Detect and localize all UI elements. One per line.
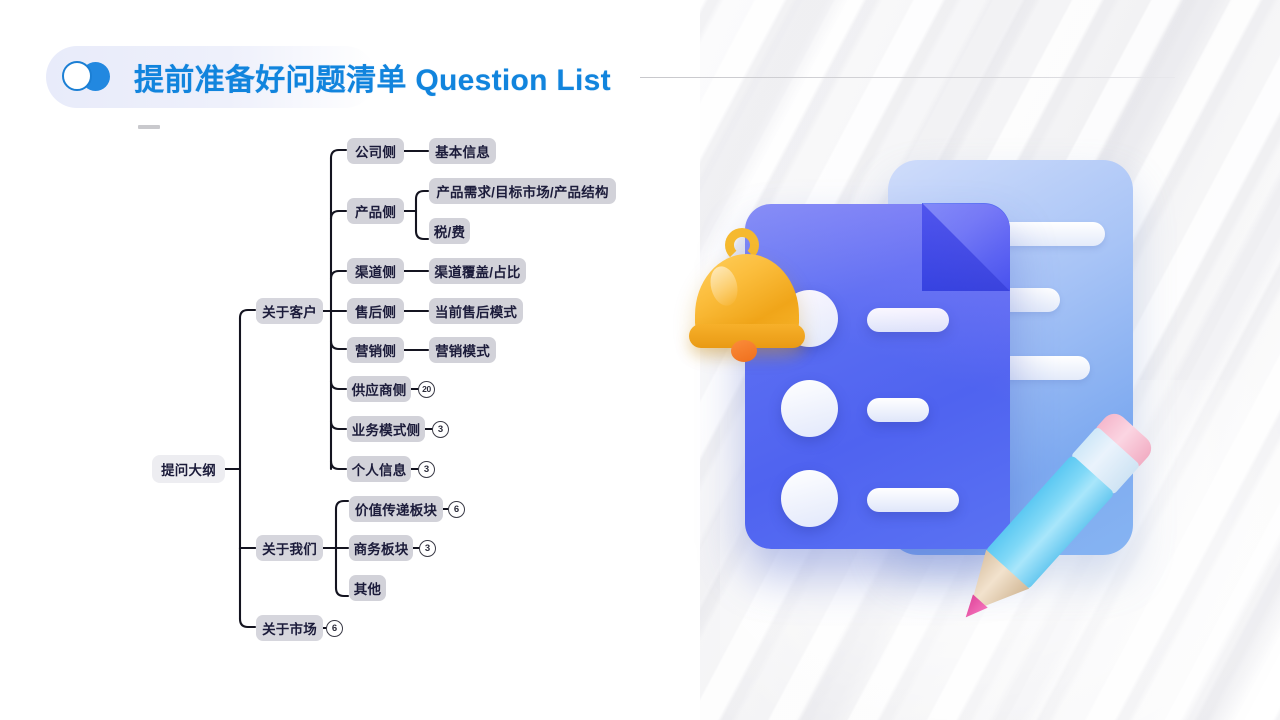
bell-clapper [731, 340, 757, 362]
mindmap-node-other[interactable]: 其他 [349, 575, 386, 601]
page-title-en: Question List [415, 64, 611, 97]
badge-value-delivery-count: 6 [448, 501, 465, 518]
mindmap-node-business-block[interactable]: 商务板块 [349, 535, 413, 561]
mindmap-node-channel-side[interactable]: 渠道侧 [347, 258, 404, 284]
mindmap-branch-about-market[interactable]: 关于市场 [256, 615, 323, 641]
page-fold-flap [922, 203, 1010, 291]
page-fold-corner-icon [922, 203, 1010, 291]
mindmap-leaf-product-demand[interactable]: 产品需求/目标市场/产品结构 [429, 178, 616, 204]
mindmap-leaf-tax-fee[interactable]: 税/费 [429, 218, 470, 244]
mindmap-node-personal-info[interactable]: 个人信息 [347, 456, 411, 482]
checklist-circle-2 [781, 380, 838, 437]
mindmap-node-value-delivery[interactable]: 价值传递板块 [349, 496, 443, 522]
mindmap-node-aftersales-side[interactable]: 售后侧 [347, 298, 404, 324]
mindmap-branch-about-us[interactable]: 关于我们 [256, 535, 323, 561]
badge-personal-info-count: 3 [418, 461, 435, 478]
badge-business-model-count: 3 [432, 421, 449, 438]
mindmap-leaf-channel-coverage[interactable]: 渠道覆盖/占比 [429, 258, 526, 284]
checklist-bar-3 [867, 488, 959, 512]
slide-canvas: 提前准备好问题清单 Question List [0, 0, 1280, 720]
mindmap-node-product-side[interactable]: 产品侧 [347, 198, 404, 224]
checklist-bar-2 [867, 398, 929, 422]
notification-bell-icon [683, 228, 811, 368]
mindmap-node-marketing-side[interactable]: 营销侧 [347, 337, 404, 363]
badge-business-block-count: 3 [419, 540, 436, 557]
page-title-cn: 提前准备好问题清单 [134, 64, 407, 97]
mindmap-node-supplier-side[interactable]: 供应商侧 [347, 376, 411, 402]
toggle-switch-icon[interactable] [62, 61, 118, 93]
mindmap-root-node[interactable]: 提问大纲 [152, 455, 225, 483]
mindmap-leaf-basic-info[interactable]: 基本信息 [429, 138, 496, 164]
header-divider-rule [640, 77, 1175, 78]
mindmap-leaf-marketing-model[interactable]: 营销模式 [429, 337, 496, 363]
page-title: 提前准备好问题清单 Question List [134, 55, 611, 99]
mindmap: 提问大纲 关于客户 公司侧 基本信息 产品侧 产品需求/目标市场/产品结构 税/… [0, 0, 700, 720]
badge-supplier-side-count: 20 [418, 381, 435, 398]
checklist-bar-1 [867, 308, 949, 332]
badge-about-market-count: 6 [326, 620, 343, 637]
mindmap-branch-about-customer[interactable]: 关于客户 [256, 298, 323, 324]
mindmap-leaf-current-aftersales[interactable]: 当前售后模式 [429, 298, 523, 324]
checklist-documents-3d-illustration [690, 140, 1210, 620]
checklist-circle-3 [781, 470, 838, 527]
toggle-knob-outline [62, 61, 92, 91]
page-fold-sheet [922, 203, 1010, 291]
mindmap-node-company-side[interactable]: 公司侧 [347, 138, 404, 164]
mindmap-node-business-model-side[interactable]: 业务模式侧 [347, 416, 425, 442]
